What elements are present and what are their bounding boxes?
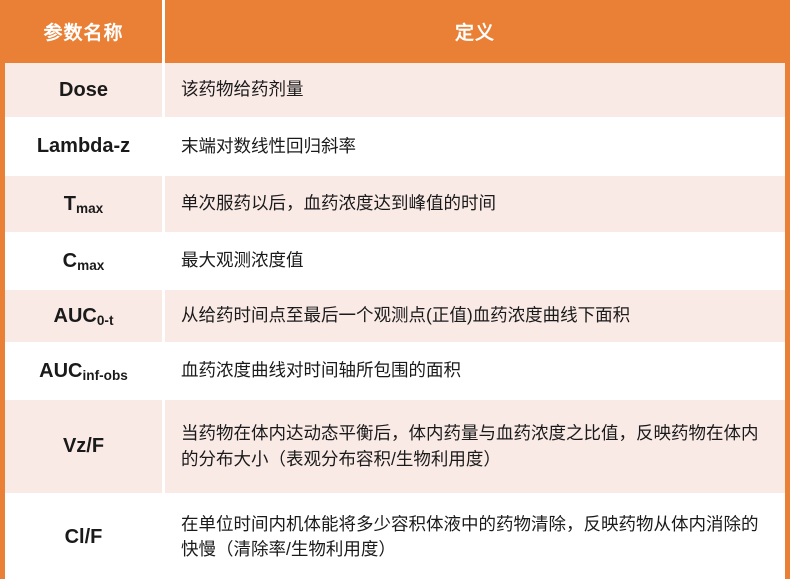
parameter-label-cmax: Cmax [63,250,105,273]
table-row: AUC0-t 从给药时间点至最后一个观测点(正值)血药浓度曲线下面积 [5,290,785,344]
cell-parameter-name: Dose [5,63,165,117]
cell-parameter-name: AUCinf-obs [5,344,165,398]
cell-definition: 最大观测浓度值 [165,234,785,288]
parameter-label-auc-inf-obs: AUCinf-obs [39,360,128,383]
parameter-definition-table: 参数名称 定义 Dose 该药物给药剂量 Lambda-z 末端对数线性回归斜率 [0,0,790,579]
parameter-label-dose: Dose [59,79,108,102]
cell-parameter-name: Cl/F [5,495,165,579]
definition-text-dose: 该药物给药剂量 [181,77,304,102]
cell-definition: 末端对数线性回归斜率 [165,119,785,174]
table-row: Dose 该药物给药剂量 [5,63,785,119]
column-header-parameter-label: 参数名称 [43,18,123,45]
cell-definition: 该药物给药剂量 [165,63,785,117]
parameter-label-auc-0-t: AUC0-t [54,305,114,328]
cell-definition: 单次服药以后，血药浓度达到峰值的时间 [165,176,785,232]
table-row: Cmax 最大观测浓度值 [5,234,785,290]
definition-text-auc-inf-obs: 血药浓度曲线对时间轴所包围的面积 [181,358,461,383]
cell-definition: 在单位时间内机体能将多少容积体液中的药物清除，反映药物从体内消除的快慢（清除率/… [165,495,785,579]
definition-text-auc-0-t: 从给药时间点至最后一个观测点(正值)血药浓度曲线下面积 [181,303,630,328]
column-header-parameter: 参数名称 [5,0,165,63]
parameter-label-lambda-z: Lambda-z [37,135,130,158]
column-header-definition: 定义 [165,0,785,63]
definition-text-cmax: 最大观测浓度值 [181,248,304,273]
parameter-label-tmax: Tmax [64,193,103,216]
table-header-row: 参数名称 定义 [0,0,790,63]
cell-parameter-name: Tmax [5,176,165,232]
definition-text-vz-f: 当药物在体内达动态平衡后，体内药量与血药浓度之比值，反映药物在体内的分布大小（表… [181,421,771,472]
table-row: Lambda-z 末端对数线性回归斜率 [5,119,785,176]
definition-text-lambda-z: 末端对数线性回归斜率 [181,134,356,159]
definition-text-cl-f: 在单位时间内机体能将多少容积体液中的药物清除，反映药物从体内消除的快慢（清除率/… [181,512,771,563]
cell-parameter-name: Lambda-z [5,119,165,174]
cell-parameter-name: Cmax [5,234,165,288]
column-header-definition-label: 定义 [455,18,495,45]
cell-definition: 当药物在体内达动态平衡后，体内药量与血药浓度之比值，反映药物在体内的分布大小（表… [165,400,785,493]
cell-parameter-name: AUC0-t [5,290,165,342]
cell-definition: 血药浓度曲线对时间轴所包围的面积 [165,344,785,398]
table-row: Tmax 单次服药以后，血药浓度达到峰值的时间 [5,176,785,234]
table-body: Dose 该药物给药剂量 Lambda-z 末端对数线性回归斜率 Tmax 单次… [5,63,785,579]
definition-text-tmax: 单次服药以后，血药浓度达到峰值的时间 [181,191,496,216]
table-row: Cl/F 在单位时间内机体能将多少容积体液中的药物清除，反映药物从体内消除的快慢… [5,495,785,579]
parameter-label-cl-f: Cl/F [65,526,103,549]
parameter-label-vz-f: Vz/F [63,435,104,458]
cell-definition: 从给药时间点至最后一个观测点(正值)血药浓度曲线下面积 [165,290,785,342]
table-row: Vz/F 当药物在体内达动态平衡后，体内药量与血药浓度之比值，反映药物在体内的分… [5,400,785,495]
cell-parameter-name: Vz/F [5,400,165,493]
table-row: AUCinf-obs 血药浓度曲线对时间轴所包围的面积 [5,344,785,400]
